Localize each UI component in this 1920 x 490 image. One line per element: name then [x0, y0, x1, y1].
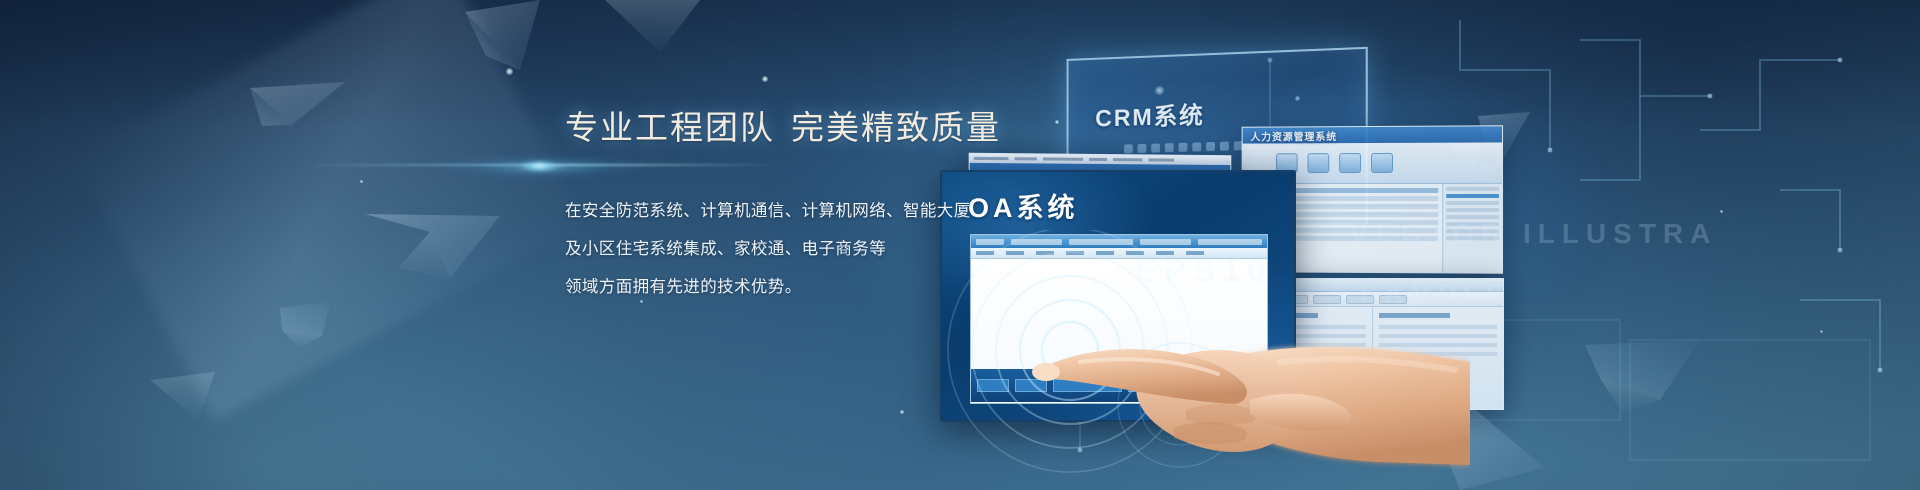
headline-part-1: 专业工程团队 [565, 109, 775, 146]
description-line-2: 及小区住宅系统集成、家校通、电子商务等 [565, 230, 1035, 268]
banner-description: 在安全防范系统、计算机通信、计算机网络、智能大厦 及小区住宅系统集成、家校通、电… [565, 192, 1035, 306]
sparkle-dot [360, 180, 363, 183]
hero-banner: 专业工程团队完美精致质量 在安全防范系统、计算机通信、计算机网络、智能大厦 及小… [0, 0, 1920, 490]
light-streak [74, 0, 586, 421]
description-line-3: 领域方面拥有先进的技术优势。 [565, 268, 1035, 306]
page-title: 专业工程团队完美精致质量 [565, 108, 1035, 148]
banner-copy: 专业工程团队完美精致质量 在安全防范系统、计算机通信、计算机网络、智能大厦 及小… [565, 108, 1035, 306]
sparkle-dot [900, 410, 904, 414]
screens-composition: EPS10 VECTOR ILLUSTRA SAMPLE CRM系统 人力资源管… [940, 0, 1920, 490]
headline-part-2: 完美精致质量 [791, 109, 1001, 146]
sparkle-dot [506, 68, 513, 75]
description-line-1: 在安全防范系统、计算机通信、计算机网络、智能大厦 [565, 192, 1035, 230]
sparkle-dot [762, 76, 768, 82]
lens-flare-core [515, 158, 563, 174]
screen-hr-title: 人力资源管理系统 [1250, 128, 1337, 143]
